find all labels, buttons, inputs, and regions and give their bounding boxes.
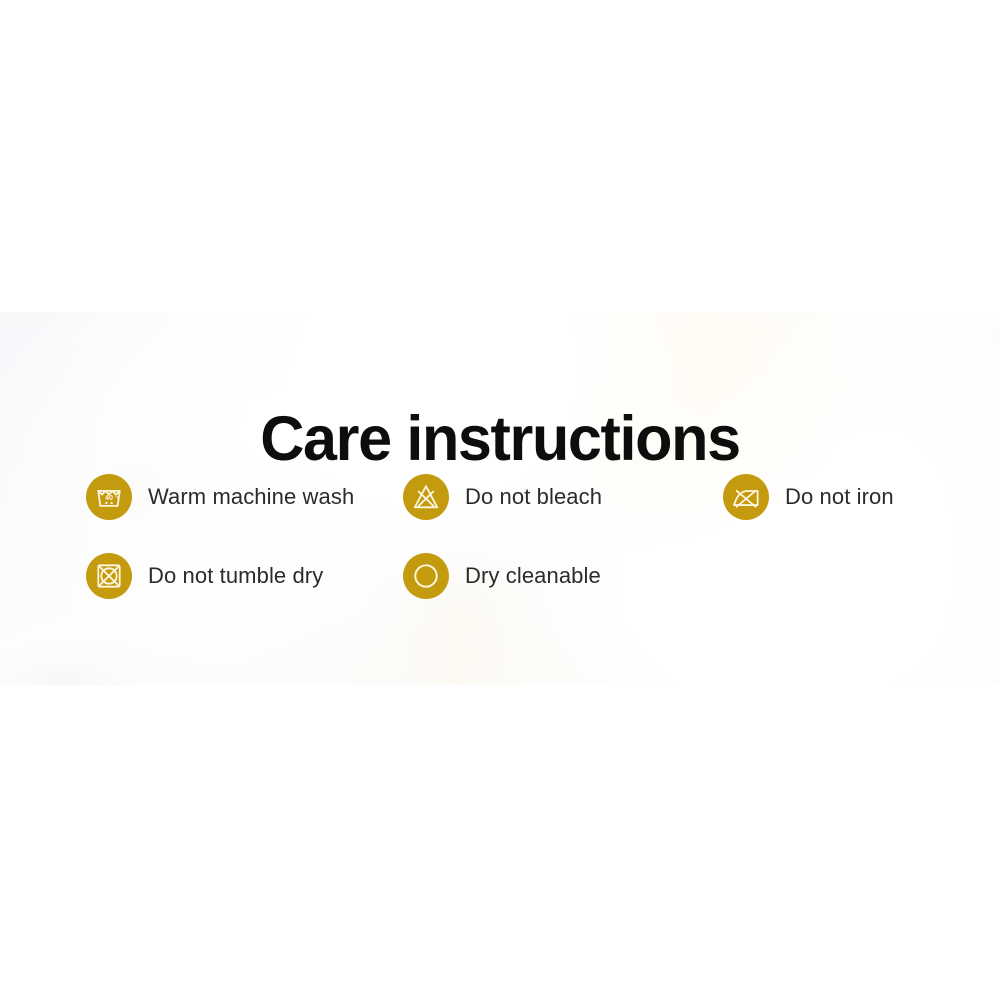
care-label-do-not-iron: Do not iron xyxy=(785,484,894,510)
page-canvas: Care instructions 40 °c xyxy=(0,0,1000,1000)
care-label-warm-machine-wash: Warm machine wash xyxy=(148,484,354,510)
care-item-do-not-bleach: Do not bleach xyxy=(403,474,723,520)
dry-cleanable-icon xyxy=(403,553,449,599)
wash-temperature-unit: °c xyxy=(115,494,120,500)
care-label-do-not-tumble-dry: Do not tumble dry xyxy=(148,563,323,589)
do-not-tumble-dry-icon xyxy=(86,553,132,599)
care-symbol-grid: 40 °c Warm machine wash xyxy=(86,474,966,632)
do-not-iron-icon xyxy=(723,474,769,520)
care-label-dry-cleanable: Dry cleanable xyxy=(465,563,601,589)
do-not-bleach-icon xyxy=(403,474,449,520)
care-row: 40 °c Warm machine wash xyxy=(86,474,966,553)
wash-temperature-text: 40 xyxy=(105,494,113,502)
banner-content: Care instructions 40 °c xyxy=(0,312,1000,685)
care-instructions-banner: Care instructions 40 °c xyxy=(0,312,1000,685)
care-label-do-not-bleach: Do not bleach xyxy=(465,484,602,510)
care-item-warm-machine-wash: 40 °c Warm machine wash xyxy=(86,474,403,520)
warm-machine-wash-icon: 40 °c xyxy=(86,474,132,520)
care-item-do-not-tumble-dry: Do not tumble dry xyxy=(86,553,403,599)
care-row: Do not tumble dry Dry cleanable xyxy=(86,553,966,632)
care-item-dry-cleanable: Dry cleanable xyxy=(403,553,723,599)
care-item-do-not-iron: Do not iron xyxy=(723,474,963,520)
page-title: Care instructions xyxy=(15,406,985,472)
